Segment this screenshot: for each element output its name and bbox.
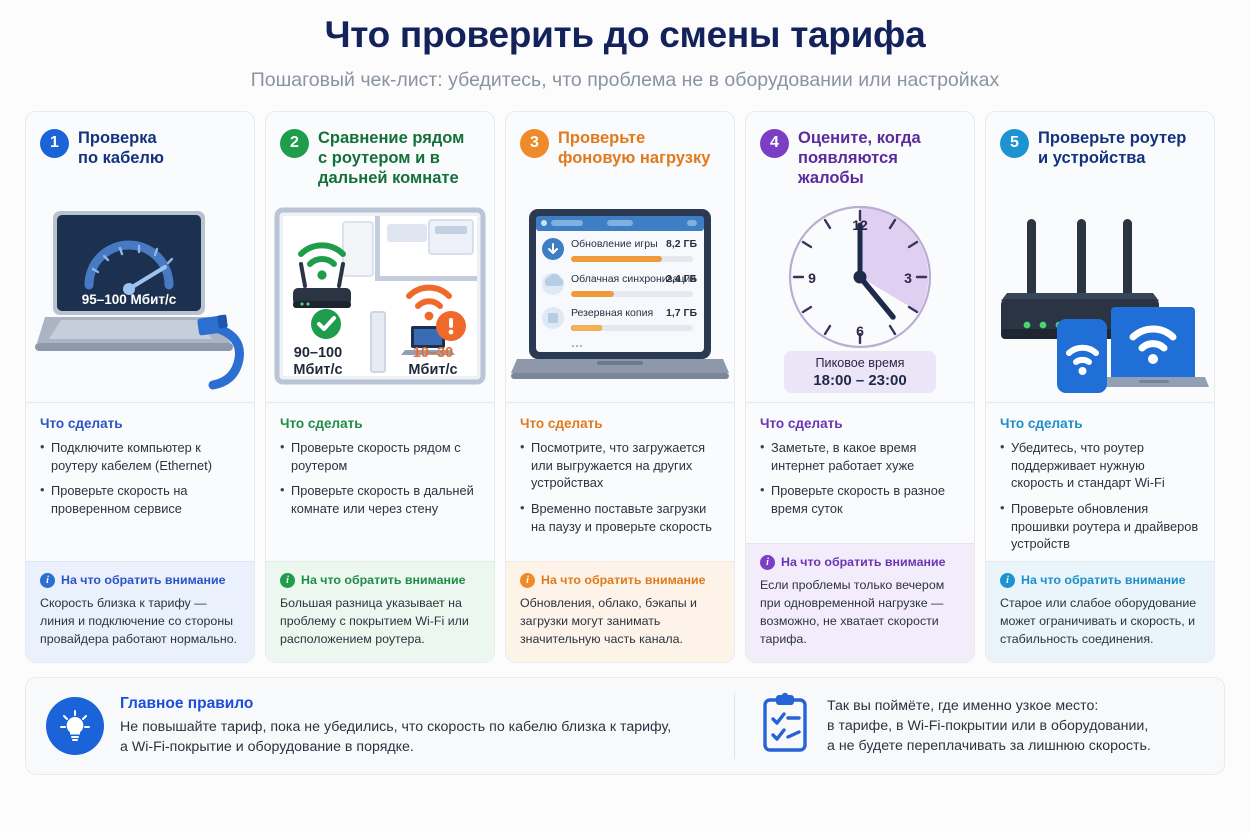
card-header-3: 3 Проверьте фоновую нагрузку xyxy=(506,112,734,190)
card-body-1: Что сделать Подключите компьютер к роуте… xyxy=(26,403,254,662)
card-body-5: Что сделать Убедитесь, что роутер поддер… xyxy=(986,403,1214,662)
info-icon: i xyxy=(280,573,295,588)
lightbulb-icon xyxy=(46,697,104,755)
todo-title-3: Что сделать xyxy=(520,416,720,431)
peak-time-value: 18:00 – 23:00 xyxy=(813,372,906,389)
clipboard-check-icon xyxy=(759,692,811,759)
near-speed-line1: 90–100 xyxy=(294,345,342,361)
todo-item: Убедитесь, что роутер поддерживает нужну… xyxy=(1000,439,1200,492)
card-body-3: Что сделать Посмотрите, что загружается … xyxy=(506,403,734,662)
note-header-3: i На что обратить внимание xyxy=(520,573,720,588)
note-box-4: i На что обратить внимание Если проблемы… xyxy=(746,543,974,662)
page-title: Что проверить до смены тарифа xyxy=(0,14,1250,57)
page-subtitle: Пошаговый чек-лист: убедитесь, что пробл… xyxy=(0,69,1250,92)
illustration-clock: 12 3 6 9 Пиковое время 18:00 – 23:00 xyxy=(746,192,974,402)
footer-summary-text: Так вы поймёте, где именно узкое место: … xyxy=(827,696,1151,756)
todo-list-1: Подключите компьютер к роутеру кабелем (… xyxy=(40,439,240,526)
note-title-3: На что обратить внимание xyxy=(541,573,706,587)
step-number-badge-1: 1 xyxy=(40,129,69,158)
card-header-2: 2 Сравнение рядом с роутером и в дальней… xyxy=(266,112,494,190)
todo-list-5: Убедитесь, что роутер поддерживает нужну… xyxy=(1000,439,1200,561)
note-text-3: Обновления, облако, бэкапы и загрузки мо… xyxy=(520,595,720,649)
footer-main-rule: Главное правило Не повышайте тариф, пока… xyxy=(46,693,726,759)
todo-item: Проверьте обновления прошивки роутера и … xyxy=(1000,500,1200,553)
todo-title-4: Что сделать xyxy=(760,416,960,431)
note-header-1: i На что обратить внимание xyxy=(40,573,240,588)
download-size: 2,4 ГБ xyxy=(666,273,697,285)
near-speed-line2: Мбит/с xyxy=(293,362,342,378)
note-text-2: Большая разница указывает на проблему с … xyxy=(280,595,480,649)
todo-item: Посмотрите, что загружается или выгружае… xyxy=(520,439,720,492)
download-size: 8,2 ГБ xyxy=(666,238,697,250)
info-icon: i xyxy=(520,573,535,588)
todo-item: Подключите компьютер к роутеру кабелем (… xyxy=(40,439,240,474)
page-header: Что проверить до смены тарифа Пошаговый … xyxy=(0,0,1250,92)
card-body-4: Что сделать Заметьте, в какое время инте… xyxy=(746,403,974,662)
todo-item: Проверьте скорость в разное время суток xyxy=(760,482,960,517)
clock-number-6: 6 xyxy=(856,323,864,339)
note-title-2: На что обратить внимание xyxy=(301,573,466,587)
step-card-5[interactable]: 5 Проверьте роутер и устройства xyxy=(985,111,1215,663)
card-header-1: 1 Проверка по кабелю xyxy=(26,112,254,190)
step-number-badge-4: 4 xyxy=(760,129,789,158)
step-number-badge-5: 5 xyxy=(1000,129,1029,158)
note-header-5: i На что обратить внимание xyxy=(1000,573,1200,588)
todo-list-2: Проверьте скорость рядом с роутером Пров… xyxy=(280,439,480,526)
todo-item: Заметьте, в какое время интернет работае… xyxy=(760,439,960,474)
footer-rule-title: Главное правило xyxy=(120,695,671,713)
footer-rule-text: Не повышайте тариф, пока не убедились, ч… xyxy=(120,717,671,757)
card-title-2: Сравнение рядом с роутером и в дальней к… xyxy=(318,128,464,188)
step-number-badge-2: 2 xyxy=(280,129,309,158)
card-title-1: Проверка по кабелю xyxy=(78,128,164,168)
illustration-router-devices xyxy=(986,192,1214,402)
note-header-4: i На что обратить внимание xyxy=(760,555,960,570)
far-speed-line1: 10–30 xyxy=(413,345,453,361)
illustration-floorplan-router: 90–100 Мбит/с 10–30 Мбит/с xyxy=(266,192,494,402)
step-card-2[interactable]: 2 Сравнение рядом с роутером и в дальней… xyxy=(265,111,495,663)
note-text-1: Скорость близка к тарифу — линия и подкл… xyxy=(40,595,240,649)
card-header-5: 5 Проверьте роутер и устройства xyxy=(986,112,1214,190)
todo-item: Проверьте скорость на проверенном сервис… xyxy=(40,482,240,517)
clock-number-3: 3 xyxy=(904,270,912,286)
card-body-2: Что сделать Проверьте скорость рядом с р… xyxy=(266,403,494,662)
footer-summary: Так вы поймёте, где именно узкое место: … xyxy=(734,693,1204,759)
far-speed-line2: Мбит/с xyxy=(408,362,457,378)
todo-list-4: Заметьте, в какое время интернет работае… xyxy=(760,439,960,526)
todo-item: Проверьте скорость рядом с роутером xyxy=(280,439,480,474)
peak-time-label: Пиковое время xyxy=(816,356,905,370)
footer-panel: Главное правило Не повышайте тариф, пока… xyxy=(25,677,1225,775)
note-text-5: Старое или слабое оборудование может огр… xyxy=(1000,595,1200,649)
footer-rule-text-block: Главное правило Не повышайте тариф, пока… xyxy=(120,695,671,757)
illustration-laptop-downloads: Обновление игры 8,2 ГБ Облачная синхрони… xyxy=(506,192,734,402)
todo-title-5: Что сделать xyxy=(1000,416,1200,431)
note-title-5: На что обратить внимание xyxy=(1021,573,1186,587)
todo-title-1: Что сделать xyxy=(40,416,240,431)
step-card-3[interactable]: 3 Проверьте фоновую нагрузку Обновление … xyxy=(505,111,735,663)
info-icon: i xyxy=(40,573,55,588)
note-box-2: i На что обратить внимание Большая разни… xyxy=(266,561,494,662)
card-title-4: Оцените, когда появляются жалобы xyxy=(798,128,960,188)
note-header-2: i На что обратить внимание xyxy=(280,573,480,588)
steps-row: 1 Проверка по кабелю 9 xyxy=(0,111,1250,663)
download-name: Обновление игры xyxy=(571,238,658,250)
note-title-4: На что обратить внимание xyxy=(781,555,946,569)
todo-title-2: Что сделать xyxy=(280,416,480,431)
card-title-5: Проверьте роутер и устройства xyxy=(1038,128,1186,168)
todo-item: Временно поставьте загрузки на паузу и п… xyxy=(520,500,720,535)
note-text-4: Если проблемы только вечером при одновре… xyxy=(760,577,960,649)
card-title-3: Проверьте фоновую нагрузку xyxy=(558,128,710,168)
downloads-more: … xyxy=(571,336,583,350)
note-box-3: i На что обратить внимание Обновления, о… xyxy=(506,561,734,662)
laptop-screen-speed-label: 95–100 Мбит/с xyxy=(82,292,177,307)
todo-list-3: Посмотрите, что загружается или выгружае… xyxy=(520,439,720,543)
download-size: 1,7 ГБ xyxy=(666,307,697,319)
step-card-1[interactable]: 1 Проверка по кабелю 9 xyxy=(25,111,255,663)
card-header-4: 4 Оцените, когда появляются жалобы xyxy=(746,112,974,190)
illustration-laptop-ethernet: 95–100 Мбит/с xyxy=(26,192,254,402)
note-box-1: i На что обратить внимание Скорость близ… xyxy=(26,561,254,662)
step-card-4[interactable]: 4 Оцените, когда появляются жалобы xyxy=(745,111,975,663)
note-box-5: i На что обратить внимание Старое или сл… xyxy=(986,561,1214,662)
info-icon: i xyxy=(760,555,775,570)
clock-number-9: 9 xyxy=(808,270,816,286)
info-icon: i xyxy=(1000,573,1015,588)
note-title-1: На что обратить внимание xyxy=(61,573,226,587)
download-name: Резервная копия xyxy=(571,307,653,319)
todo-item: Проверьте скорость в дальней комнате или… xyxy=(280,482,480,517)
step-number-badge-3: 3 xyxy=(520,129,549,158)
